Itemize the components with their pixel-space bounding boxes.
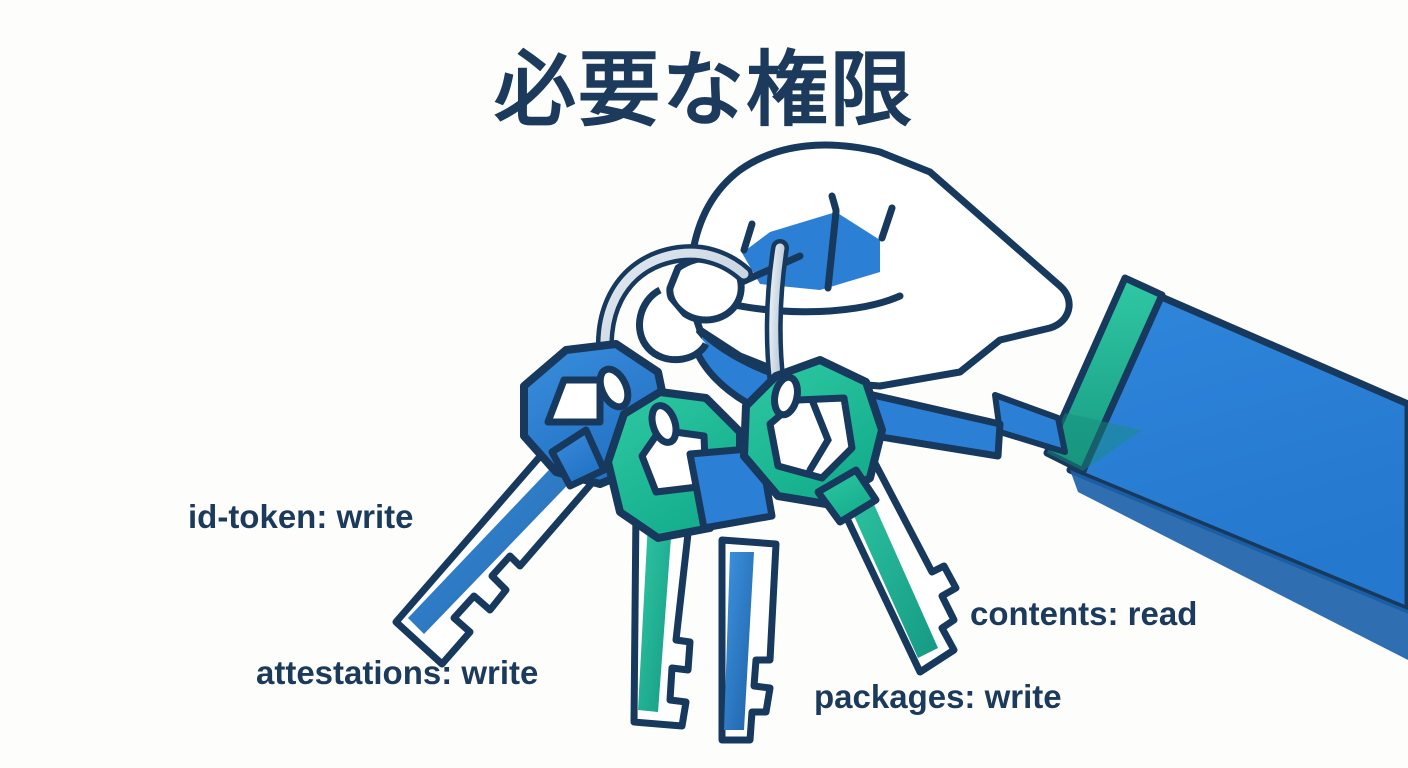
permission-label-id-token: id-token: write bbox=[188, 498, 414, 535]
permission-label-contents: contents: read bbox=[970, 595, 1197, 632]
illustration-slide: 必要な権限 id-token: write attestations: writ… bbox=[0, 0, 1408, 768]
page-title: 必要な権限 bbox=[494, 43, 914, 138]
permission-label-attestations: attestations: write bbox=[256, 654, 538, 691]
permissions-illustration: 必要な権限 id-token: write attestations: writ… bbox=[0, 0, 1408, 768]
permission-label-packages: packages: write bbox=[814, 678, 1062, 715]
